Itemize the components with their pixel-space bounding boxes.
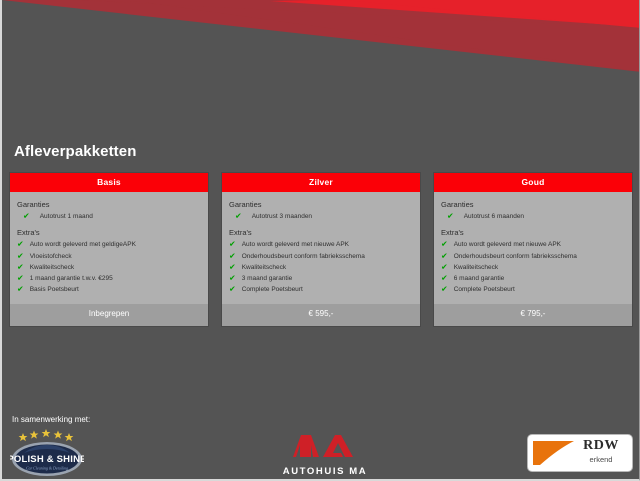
list-item-label: 6 maand garantie <box>454 275 625 283</box>
extras-label: Extra's <box>17 228 201 237</box>
list-item: ✔ Basis Poetsbeurt <box>17 286 201 294</box>
check-icon: ✔ <box>229 263 236 271</box>
package-card-goud[interactable]: Goud Garanties ✔ Autotrust 6 maanden Ext… <box>434 173 632 326</box>
package-card-body: Garanties ✔ Autotrust 3 maanden Extra's … <box>222 192 420 304</box>
check-icon: ✔ <box>17 274 24 282</box>
package-price[interactable]: € 795,- <box>434 304 632 326</box>
list-item-label: Autotrust 3 maanden <box>252 213 413 221</box>
list-item-label: Complete Poetsbeurt <box>242 286 413 294</box>
list-item: ✔ Kwaliteitscheck <box>17 264 201 272</box>
package-card-header: Goud <box>434 173 632 192</box>
list-item: ✔ Auto wordt geleverd met nieuwe APK <box>441 241 625 249</box>
partners-label: In samenwerking met: <box>12 415 90 424</box>
package-price[interactable]: € 595,- <box>222 304 420 326</box>
package-price[interactable]: Inbegrepen <box>10 304 208 326</box>
list-item-label: Autotrust 1 maand <box>40 213 201 221</box>
list-item-label: Onderhoudsbeurt conform fabrieksschema <box>242 253 413 261</box>
list-item: ✔ Complete Poetsbeurt <box>229 286 413 294</box>
package-card-body: Garanties ✔ Autotrust 1 maand Extra's ✔ … <box>10 192 208 304</box>
check-icon: ✔ <box>229 274 236 282</box>
garanties-label: Garanties <box>229 200 413 209</box>
list-item-label: Autotrust 6 maanden <box>464 213 625 221</box>
polish-shine-logo: POLISH & SHINE Car Cleaning & Detailing <box>10 428 84 478</box>
afleverpakketten-page: Afleverpakketten Basis Garanties ✔ Autot… <box>0 0 640 481</box>
top-banner <box>2 0 640 140</box>
check-icon: ✔ <box>17 252 24 260</box>
garanties-list: ✔ Autotrust 6 maanden <box>441 213 625 221</box>
check-icon: ✔ <box>229 285 236 293</box>
polish-shine-wordmark: POLISH & SHINE <box>10 454 84 465</box>
page-title: Afleverpakketten <box>14 143 137 160</box>
package-card-body: Garanties ✔ Autotrust 6 maanden Extra's … <box>434 192 632 304</box>
list-item-label: Kwaliteitscheck <box>242 264 413 272</box>
autohuis-ma-logo: AUTOHUIS MA <box>275 431 375 475</box>
list-item: ✔ Autotrust 1 maand <box>17 213 201 221</box>
list-item: ✔ Auto wordt geleverd met geldigeAPK <box>17 241 201 249</box>
list-item-label: Auto wordt geleverd met nieuwe APK <box>454 241 625 249</box>
extras-label: Extra's <box>441 228 625 237</box>
list-item-label: Auto wordt geleverd met nieuwe APK <box>242 241 413 249</box>
autohuis-ma-wordmark: AUTOHUIS MA <box>275 466 375 477</box>
package-card-basis[interactable]: Basis Garanties ✔ Autotrust 1 maand Extr… <box>10 173 208 326</box>
list-item-label: 3 maand garantie <box>242 275 413 283</box>
garanties-label: Garanties <box>441 200 625 209</box>
list-item-label: Auto wordt geleverd met geldigeAPK <box>30 241 201 249</box>
list-item: ✔ 3 maand garantie <box>229 275 413 283</box>
polish-shine-stars <box>19 429 74 441</box>
list-item: ✔ 1 maand garantie t.w.v. €295 <box>17 275 201 283</box>
list-item: ✔ Autotrust 6 maanden <box>441 213 625 221</box>
check-icon: ✔ <box>441 263 448 271</box>
partner-logos: POLISH & SHINE Car Cleaning & Detailing … <box>2 425 640 479</box>
package-card-header: Basis <box>10 173 208 192</box>
check-icon: ✔ <box>23 213 30 221</box>
check-icon: ✔ <box>447 213 454 221</box>
check-icon: ✔ <box>441 274 448 282</box>
list-item: ✔ 6 maand garantie <box>441 275 625 283</box>
list-item-label: Basis Poetsbeurt <box>30 286 201 294</box>
extras-list: ✔ Auto wordt geleverd met nieuwe APK ✔ O… <box>229 241 413 294</box>
list-item: ✔ Complete Poetsbeurt <box>441 286 625 294</box>
list-item-label: Onderhoudsbeurt conform fabrieksschema <box>454 253 625 261</box>
list-item: ✔ Auto wordt geleverd met nieuwe APK <box>229 241 413 249</box>
check-icon: ✔ <box>441 285 448 293</box>
rdw-title: RDW <box>577 439 625 453</box>
polish-shine-mark: POLISH & SHINE Car Cleaning & Detailing <box>10 428 84 478</box>
list-item: ✔ Autotrust 3 maanden <box>229 213 413 221</box>
garanties-label: Garanties <box>17 200 201 209</box>
list-item-label: Vloeistofcheck <box>30 253 201 261</box>
list-item-label: 1 maand garantie t.w.v. €295 <box>30 275 201 283</box>
rdw-subtitle: erkend <box>577 456 625 464</box>
check-icon: ✔ <box>229 252 236 260</box>
package-card-zilver[interactable]: Zilver Garanties ✔ Autotrust 3 maanden E… <box>222 173 420 326</box>
extras-label: Extra's <box>229 228 413 237</box>
extras-list: ✔ Auto wordt geleverd met geldigeAPK ✔ V… <box>17 241 201 294</box>
autohuis-ma-mark <box>275 431 375 459</box>
polish-shine-tagline: Car Cleaning & Detailing <box>26 466 68 471</box>
rdw-logo-inner: RDW erkend <box>528 435 632 471</box>
check-icon: ✔ <box>17 285 24 293</box>
extras-list: ✔ Auto wordt geleverd met nieuwe APK ✔ O… <box>441 241 625 294</box>
check-icon: ✔ <box>229 241 236 249</box>
list-item-label: Kwaliteitscheck <box>454 264 625 272</box>
rdw-logo: RDW erkend <box>528 435 632 471</box>
check-icon: ✔ <box>441 252 448 260</box>
check-icon: ✔ <box>235 213 242 221</box>
garanties-list: ✔ Autotrust 3 maanden <box>229 213 413 221</box>
package-card-header: Zilver <box>222 173 420 192</box>
list-item: ✔ Onderhoudsbeurt conform fabrieksschema <box>229 253 413 261</box>
banner-stripes <box>2 0 640 140</box>
garanties-list: ✔ Autotrust 1 maand <box>17 213 201 221</box>
check-icon: ✔ <box>441 241 448 249</box>
list-item-label: Kwaliteitscheck <box>30 264 201 272</box>
check-icon: ✔ <box>17 263 24 271</box>
package-cards-row: Basis Garanties ✔ Autotrust 1 maand Extr… <box>10 173 634 326</box>
list-item-label: Complete Poetsbeurt <box>454 286 625 294</box>
list-item: ✔ Onderhoudsbeurt conform fabrieksschema <box>441 253 625 261</box>
list-item: ✔ Vloeistofcheck <box>17 253 201 261</box>
check-icon: ✔ <box>17 241 24 249</box>
rdw-text-block: RDW erkend <box>577 439 625 464</box>
list-item: ✔ Kwaliteitscheck <box>229 264 413 272</box>
list-item: ✔ Kwaliteitscheck <box>441 264 625 272</box>
